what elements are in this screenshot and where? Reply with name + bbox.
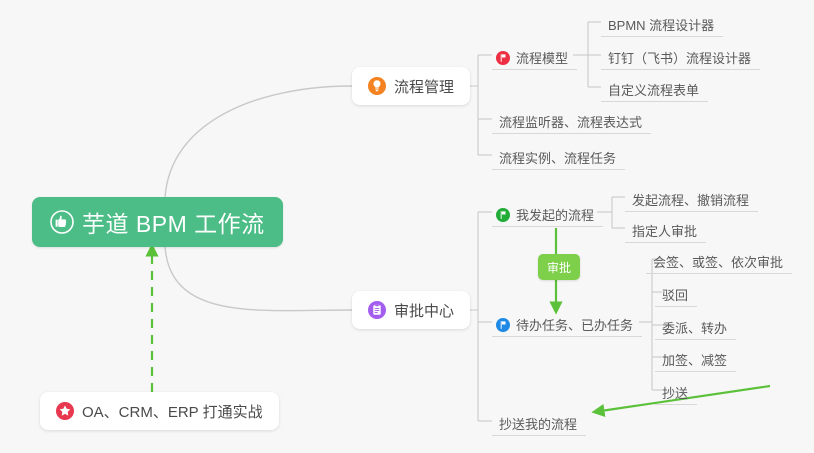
clipboard-icon — [368, 301, 386, 319]
node-label: 流程实例、流程任务 — [499, 152, 616, 165]
node-label: 钉钉（飞书）流程设计器 — [608, 52, 751, 65]
node-label: 会签、或签、依次审批 — [653, 256, 783, 269]
flag-icon — [496, 318, 510, 332]
star-icon — [56, 402, 74, 420]
node-label: BPMN 流程设计器 — [608, 19, 714, 32]
node-add-remove-sign[interactable]: 加签、减签 — [655, 342, 736, 372]
mindmap-canvas: 芋道 BPM 工作流 OA、CRM、ERP 打通实战 流程管理 — [0, 0, 814, 453]
approval-badge[interactable]: 审批 — [538, 254, 580, 280]
node-label: 我发起的流程 — [516, 209, 594, 222]
flag-icon — [496, 208, 510, 222]
node-label: 抄送我的流程 — [499, 418, 577, 431]
wire-root-to-approval-center — [165, 246, 352, 311]
node-label: 抄送 — [662, 387, 688, 400]
node-label: 加签、减签 — [662, 354, 727, 367]
node-countersign[interactable]: 会签、或签、依次审批 — [646, 244, 792, 274]
callout-node[interactable]: OA、CRM、ERP 打通实战 — [40, 392, 279, 430]
node-cc-to-me-process[interactable]: 抄送我的流程 — [492, 406, 586, 436]
thumbs-up-icon — [50, 210, 74, 234]
node-custom-process-form[interactable]: 自定义流程表单 — [601, 72, 708, 102]
node-start-cancel-process[interactable]: 发起流程、撤销流程 — [625, 182, 758, 212]
node-label: 指定人审批 — [632, 225, 697, 238]
flag-icon — [496, 51, 510, 65]
node-dingtalk-feishu-designer[interactable]: 钉钉（飞书）流程设计器 — [601, 40, 760, 70]
node-cc[interactable]: 抄送 — [655, 375, 697, 405]
node-process-model[interactable]: 流程模型 — [492, 40, 577, 70]
node-assignee-approval[interactable]: 指定人审批 — [625, 213, 706, 243]
root-node[interactable]: 芋道 BPM 工作流 — [32, 197, 283, 247]
node-todo-done-tasks[interactable]: 待办任务、已办任务 — [492, 307, 642, 337]
node-label: 待办任务、已办任务 — [516, 319, 633, 332]
node-process-listener[interactable]: 流程监听器、流程表达式 — [492, 104, 651, 134]
node-bpmn-designer[interactable]: BPMN 流程设计器 — [601, 7, 723, 37]
node-my-initiated-process[interactable]: 我发起的流程 — [492, 197, 603, 227]
node-label: 驳回 — [662, 289, 688, 302]
branch-label: 审批中心 — [394, 300, 454, 321]
branch-process-management[interactable]: 流程管理 — [352, 67, 470, 105]
node-label: 发起流程、撤销流程 — [632, 194, 749, 207]
branch-label: 流程管理 — [394, 76, 454, 97]
branch-approval-center[interactable]: 审批中心 — [352, 291, 470, 329]
wire-root-to-process-management — [165, 86, 352, 198]
lightbulb-icon — [368, 77, 386, 95]
callout-label: OA、CRM、ERP 打通实战 — [82, 401, 263, 422]
node-label: 自定义流程表单 — [608, 84, 699, 97]
node-process-instance-task[interactable]: 流程实例、流程任务 — [492, 140, 625, 170]
node-reject[interactable]: 驳回 — [655, 277, 697, 307]
root-label: 芋道 BPM 工作流 — [82, 205, 265, 239]
badge-label: 审批 — [547, 259, 571, 276]
node-label: 流程监听器、流程表达式 — [499, 116, 642, 129]
node-label: 委派、转办 — [662, 322, 727, 335]
node-delegate-transfer[interactable]: 委派、转办 — [655, 310, 736, 340]
node-label: 流程模型 — [516, 52, 568, 65]
